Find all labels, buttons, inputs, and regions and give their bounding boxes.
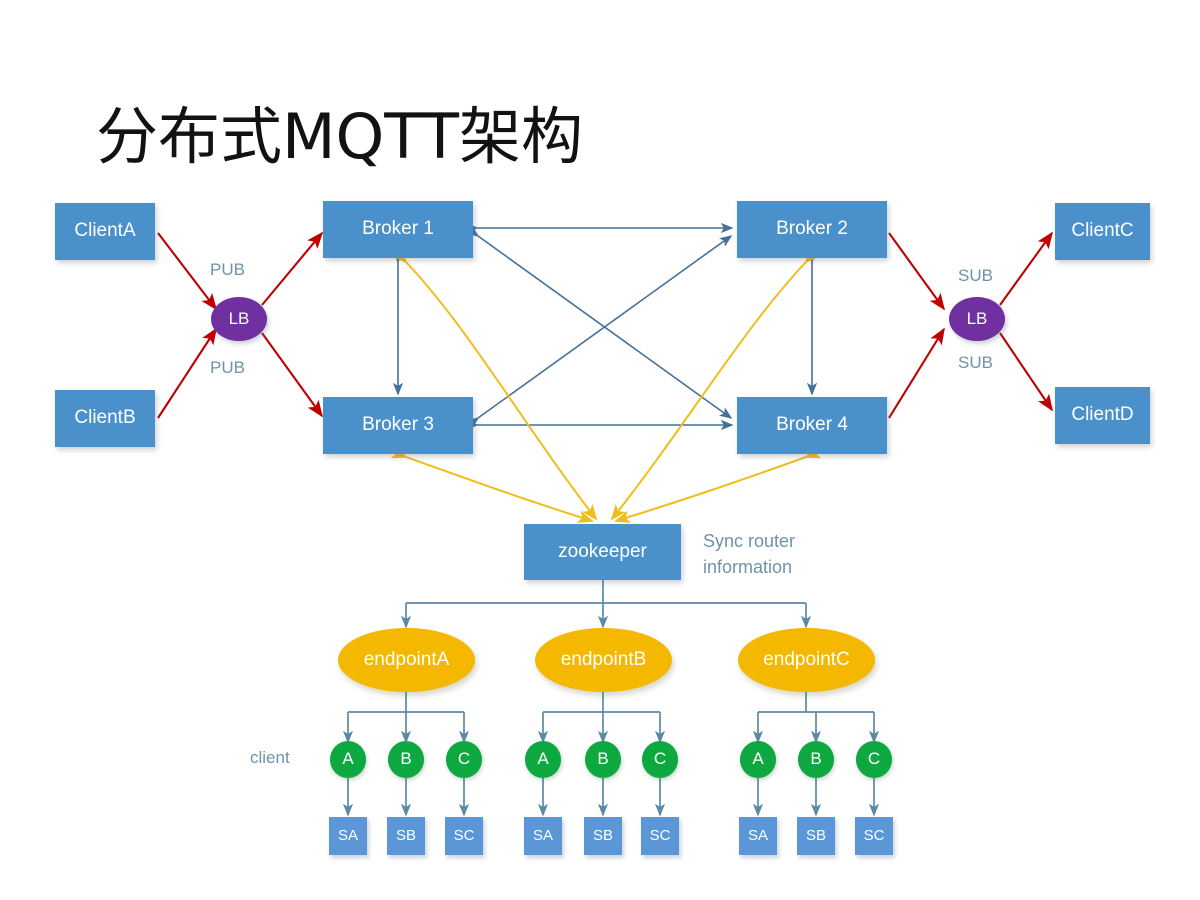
node-clientb[interactable]: ClientB (55, 390, 155, 447)
endpointa-session-sa-label: SA (338, 828, 358, 845)
node-broker-1[interactable]: Broker 1 (323, 201, 473, 258)
endpointc-session-sa-label: SA (748, 828, 768, 845)
node-endpoint-c[interactable]: endpointC (738, 628, 875, 692)
arrow-broker4-to-lb (889, 329, 944, 418)
node-broker-4[interactable]: Broker 4 (737, 397, 887, 454)
endpointb-session-sb-label: SB (593, 828, 613, 845)
endpoint-a-label: endpointA (364, 650, 450, 671)
clientc-label: ClientC (1071, 221, 1133, 242)
arrow-lb-to-broker3 (262, 333, 322, 416)
broker-4-label: Broker 4 (776, 415, 848, 436)
node-zookeeper[interactable]: zookeeper (524, 524, 681, 580)
node-endpointb-client-a[interactable]: A (525, 741, 561, 778)
label-pub-bottom: PUB (210, 358, 245, 378)
node-endpointc-session-sc[interactable]: SC (855, 817, 893, 855)
endpointa-session-sb-label: SB (396, 828, 416, 845)
node-load-balancer-right[interactable]: LB (949, 297, 1005, 341)
clientb-label: ClientB (74, 408, 135, 429)
endpoint-b-label: endpointB (561, 650, 647, 671)
node-endpointb-session-sb[interactable]: SB (584, 817, 622, 855)
endpointb-client-a-label: A (537, 750, 548, 769)
node-endpointb-session-sa[interactable]: SA (524, 817, 562, 855)
arrow-clienta-to-lb (158, 233, 216, 309)
node-endpointa-client-c[interactable]: C (446, 741, 482, 778)
clienta-label: ClientA (74, 221, 135, 242)
node-clientd[interactable]: ClientD (1055, 387, 1150, 444)
node-endpointc-client-b[interactable]: B (798, 741, 834, 778)
node-endpointb-session-sc[interactable]: SC (641, 817, 679, 855)
endpointc-client-b-label: B (810, 750, 821, 769)
endpoint-c-label: endpointC (763, 650, 850, 671)
node-endpointa-client-b[interactable]: B (388, 741, 424, 778)
node-endpointb-client-b[interactable]: B (585, 741, 621, 778)
endpointa-client-c-label: C (458, 750, 470, 769)
arrow-lb-to-clientd (1000, 333, 1052, 410)
node-broker-3[interactable]: Broker 3 (323, 397, 473, 454)
label-sync-router-information: Sync router information (703, 528, 903, 580)
node-endpointa-session-sc[interactable]: SC (445, 817, 483, 855)
clientd-label: ClientD (1071, 405, 1133, 426)
endpointc-session-sb-label: SB (806, 828, 826, 845)
sync-broker3-zookeeper (406, 457, 592, 521)
broker-2-label: Broker 2 (776, 219, 848, 240)
node-endpointb-client-c[interactable]: C (642, 741, 678, 778)
node-endpointc-client-a[interactable]: A (740, 741, 776, 778)
node-broker-2[interactable]: Broker 2 (737, 201, 887, 258)
endpointa-client-a-label: A (342, 750, 353, 769)
endpointa-session-sc-label: SC (454, 828, 475, 845)
arrow-lb-to-broker1 (262, 233, 322, 305)
node-endpointc-session-sa[interactable]: SA (739, 817, 777, 855)
node-endpoint-a[interactable]: endpointA (338, 628, 475, 692)
node-endpointc-session-sb[interactable]: SB (797, 817, 835, 855)
arrow-clientb-to-lb (158, 329, 216, 418)
node-endpointa-session-sa[interactable]: SA (329, 817, 367, 855)
label-sub-top: SUB (958, 266, 993, 286)
lb-right-label: LB (967, 310, 988, 329)
endpointb-session-sc-label: SC (650, 828, 671, 845)
node-load-balancer-left[interactable]: LB (211, 297, 267, 341)
label-sub-bottom: SUB (958, 353, 993, 373)
mesh-broker3-broker2 (478, 236, 731, 418)
mesh-broker1-broker4 (478, 236, 731, 418)
endpointc-client-c-label: C (868, 750, 880, 769)
page-title: 分布式MQTT架构 (96, 86, 583, 176)
arrow-lb-to-clientc (1000, 233, 1052, 305)
broker-3-label: Broker 3 (362, 415, 434, 436)
endpointb-client-c-label: C (654, 750, 666, 769)
node-clienta[interactable]: ClientA (55, 203, 155, 260)
endpointc-client-a-label: A (752, 750, 763, 769)
diagram-canvas: 分布式MQTT架构 (0, 0, 1200, 900)
node-endpointa-session-sb[interactable]: SB (387, 817, 425, 855)
label-pub-top: PUB (210, 260, 245, 280)
node-endpointc-client-c[interactable]: C (856, 741, 892, 778)
arrow-broker2-to-lb (889, 233, 944, 309)
lb-left-label: LB (229, 310, 250, 329)
broker-1-label: Broker 1 (362, 219, 434, 240)
zookeeper-sync-group (406, 262, 806, 521)
endpointb-session-sa-label: SA (533, 828, 553, 845)
endpointc-session-sc-label: SC (864, 828, 885, 845)
node-clientc[interactable]: ClientC (1055, 203, 1150, 260)
zookeeper-label: zookeeper (558, 542, 647, 563)
sync-broker2-zookeeper (612, 262, 806, 519)
zookeeper-endpoint-tree (406, 580, 806, 627)
label-client-row: client (250, 748, 290, 768)
sync-broker4-zookeeper (616, 457, 806, 521)
node-endpointa-client-a[interactable]: A (330, 741, 366, 778)
endpointa-client-b-label: B (400, 750, 411, 769)
node-endpoint-b[interactable]: endpointB (535, 628, 672, 692)
endpointb-client-b-label: B (597, 750, 608, 769)
sync-broker1-zookeeper (406, 262, 596, 519)
